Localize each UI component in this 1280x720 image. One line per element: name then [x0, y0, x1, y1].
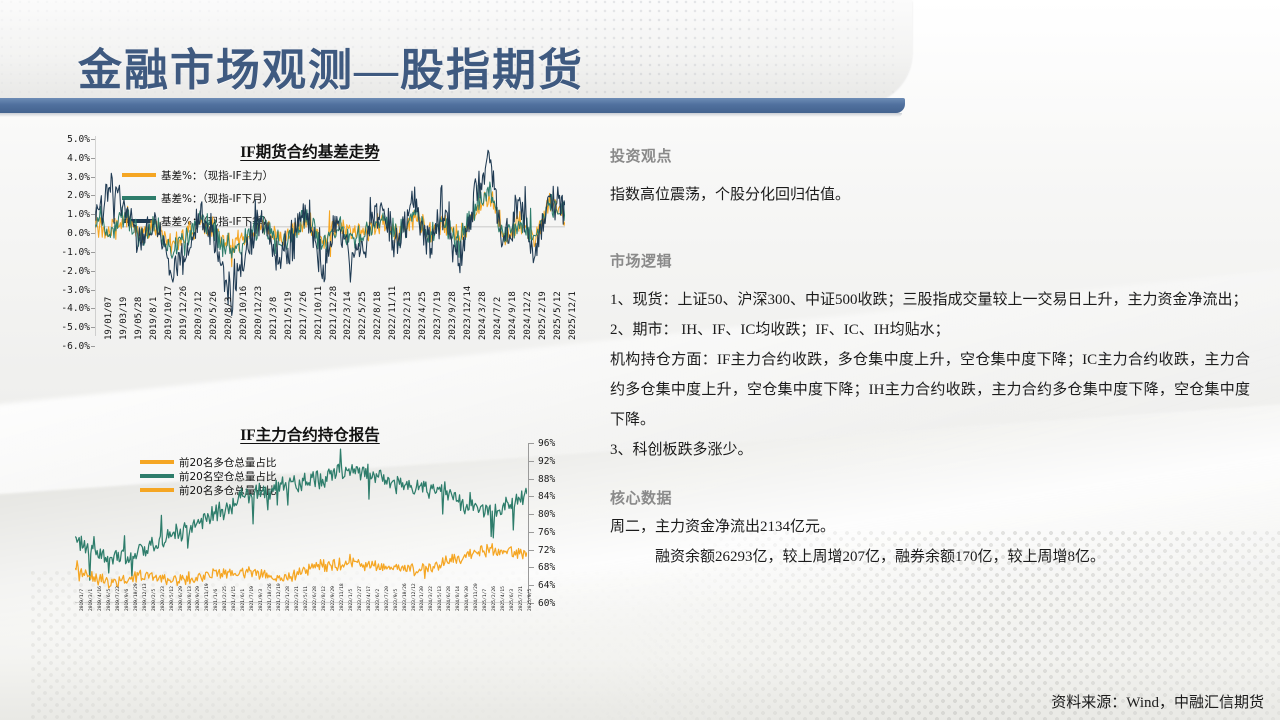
x-tick-label: 19/05/28: [134, 297, 144, 340]
market-logic-heading: 市场逻辑: [610, 250, 1250, 271]
x-tick-label: 2019/6/5: [107, 589, 112, 611]
spacer: [610, 465, 1250, 487]
x-tick-label: 2024/1/30: [420, 586, 425, 611]
y-tick-label: 60%: [538, 598, 555, 609]
x-tick-label: 2022/3/14: [343, 291, 353, 340]
y-tick-label: -6.0%: [50, 341, 90, 352]
x-tick-label: 2024/6/28: [447, 586, 452, 611]
slide-canvas: 金融市场观测—股指期货 IF期货合约基差走势 5.0%4.0%3.0%2.0%1…: [0, 0, 1280, 720]
y-tick-label: 64%: [538, 580, 555, 591]
x-tick-label: 2020/5/12: [170, 586, 175, 611]
x-tick-label: 2020/12/23: [254, 286, 264, 340]
investment-view-text: 指数高位震荡，个股分化回归估值。: [610, 180, 1250, 210]
x-tick-label: 2020/9/29: [196, 586, 201, 611]
x-tick-label: 2022/8/12: [322, 586, 327, 611]
x-tick-label: 2021/10/11: [314, 286, 324, 340]
x-tick-label: 2024/3/28: [478, 291, 488, 340]
x-tick-label: 2025/9/5: [528, 589, 533, 611]
if-position-plot-area: [75, 443, 527, 603]
market-logic-item-3: 机构持仓方面：IF主力合约收跌，多仓集中度上升，空仓集中度下降；IC主力合约收跌…: [610, 345, 1250, 435]
x-tick-label: 2025/4/15: [501, 586, 506, 611]
x-tick-label: 2022/11/18: [340, 583, 345, 611]
x-tick-label: 2022/9/29: [331, 586, 336, 611]
y-tick-mark: [529, 496, 534, 497]
y-tick-mark: [529, 479, 534, 480]
x-tick-label: 2025/1/7: [483, 589, 488, 611]
x-tick-label: 2022/6/28: [313, 586, 318, 611]
x-tick-label: 2022/3/21: [295, 586, 300, 611]
x-tick-label: 2024/8/14: [456, 586, 461, 611]
x-tick-label: 2021/7/26: [299, 291, 309, 340]
y-tick-label: 80%: [538, 509, 555, 520]
x-tick-label: 2024/9/30: [465, 586, 470, 611]
y-tick-label: 5.0%: [50, 134, 90, 145]
y-tick-label: 84%: [538, 491, 555, 502]
spacer: [610, 210, 1250, 250]
investment-view-heading: 投资观点: [610, 145, 1250, 166]
x-tick-label: 2023/2/27: [358, 586, 363, 611]
y-tick-label: -4.0%: [50, 303, 90, 314]
x-tick-label: 2025/12/1: [568, 291, 578, 340]
slide-header: 金融市场观测—股指期货: [0, 0, 1280, 118]
market-logic-item-2: 2、期市： IH、IF、IC均收跌；IF、IC、IH均贴水；: [610, 315, 1250, 345]
x-tick-label: 2022/1/28: [286, 586, 291, 611]
x-tick-label: 2019/12/26: [179, 286, 189, 340]
x-tick-label: 2020/8/3: [224, 297, 234, 340]
x-tick-label: 2019/7/22: [116, 586, 121, 611]
y-tick-mark: [529, 461, 534, 462]
x-tick-label: 2020/8/13: [188, 586, 193, 611]
source-note: 资料来源：Wind，中融汇信期货: [1051, 691, 1264, 712]
x-tick-label: 2019/1/7: [80, 589, 85, 611]
x-tick-label: 2019/8/1: [149, 297, 159, 340]
x-tick-label: 2020/10/16: [239, 286, 249, 340]
x-tick-label: 2023/4/25: [418, 291, 428, 340]
x-tick-label: 2021/2/25: [223, 586, 228, 611]
if-position-chart-title: IF主力合约持仓报告: [50, 423, 570, 445]
market-logic-item-4: 3、科创板跌多涨少。: [610, 435, 1250, 465]
y-tick-label: -1.0%: [50, 247, 90, 258]
y-tick-label: 96%: [538, 438, 555, 449]
x-tick-label: 2019/12/13: [143, 583, 148, 611]
x-tick-label: 2020/5/26: [209, 291, 219, 340]
x-tick-label: 2023/7/19: [433, 291, 443, 340]
y-tick-label: -5.0%: [50, 322, 90, 333]
x-tick-label: 2025/7/21: [519, 586, 524, 611]
x-tick-label: 2020/11/19: [205, 583, 210, 611]
x-tick-label: 2023/6/2: [376, 589, 381, 611]
y-tick-label: -3.0%: [50, 285, 90, 296]
x-tick-label: 2022/5/11: [304, 586, 309, 611]
y-axis-line: [528, 443, 529, 603]
x-tick-label: 2024/9/18: [508, 291, 518, 340]
x-tick-label: 2021/3/8: [269, 297, 279, 340]
page-title: 金融市场观测—股指期货: [78, 34, 584, 98]
x-tick-label: 2024/7/2: [493, 297, 503, 340]
commentary-column: 投资观点 指数高位震荡，个股分化回归估值。 市场逻辑 1、现货：上证50、沪深3…: [610, 145, 1250, 572]
x-tick-label: 2024/5/13: [438, 586, 443, 611]
y-tick-label: -2.0%: [50, 266, 90, 277]
x-tick-label: 2023/2/13: [403, 291, 413, 340]
x-tick-label: 2020/3/23: [161, 586, 166, 611]
x-tick-label: 2019/3/1: [89, 589, 94, 611]
if-basis-chart: IF期货合约基差走势 5.0%4.0%3.0%2.0%1.0%0.0%-1.0%…: [50, 128, 570, 418]
x-tick-label: 2024/3/22: [429, 586, 434, 611]
x-tick-label: 2021/7/19: [250, 586, 255, 611]
x-tick-label: 2021/4/15: [232, 586, 237, 611]
x-tick-label: 2022/11/11: [388, 286, 398, 340]
x-tick-label: 2019/9/6: [125, 589, 130, 611]
x-tick-label: 2020/2/5: [152, 589, 157, 611]
y-tick-label: 3.0%: [50, 172, 90, 183]
x-tick-label: 2022/5/25: [358, 291, 368, 340]
y-tick-mark: [529, 514, 534, 515]
y-tick-label: 88%: [538, 474, 555, 485]
y-tick-label: 76%: [538, 527, 555, 538]
core-data-heading: 核心数据: [610, 487, 1250, 508]
core-data-line-2: 融资余额26293亿，较上周增207亿，融券余额170亿，较上周增8亿。: [610, 542, 1250, 572]
x-tick-label: 2020/6/29: [179, 586, 184, 611]
y-tick-label: 2.0%: [50, 190, 90, 201]
x-tick-label: 19/03/19: [119, 297, 129, 340]
x-tick-label: 19/01/07: [104, 297, 114, 340]
x-tick-label: 2021/10/26: [268, 583, 273, 611]
x-tick-label: 2023/9/28: [448, 291, 458, 340]
x-tick-label: 2021/5/19: [284, 291, 294, 340]
x-tick-label: 2023/10/26: [403, 583, 408, 611]
y-tick-label: 4.0%: [50, 153, 90, 164]
x-tick-label: 2023/9/5: [394, 589, 399, 611]
x-tick-label: 2021/9/3: [259, 589, 264, 611]
x-tick-label: 2021/12/10: [277, 583, 282, 611]
x-tick-label: 2021/1/6: [214, 589, 219, 611]
x-tick-label: 2019/10/29: [134, 583, 139, 611]
x-tick-label: 2023/7/20: [385, 586, 390, 611]
y-tick-label: 1.0%: [50, 209, 90, 220]
x-tick-label: 2025/2/19: [538, 291, 548, 340]
x-tick-label: 2025/5/12: [553, 291, 563, 340]
x-tick-label: 2024/12/2: [523, 291, 533, 340]
y-tick-label: 72%: [538, 545, 555, 556]
header-bar-shadow: [0, 113, 902, 117]
y-tick-label: 92%: [538, 456, 555, 467]
market-logic-item-1: 1、现货：上证50、沪深300、中证500收跌；三股指成交量较上一交易日上升，主…: [610, 285, 1250, 315]
x-tick-label: 2019/4/16: [98, 586, 103, 611]
core-data-line-1: 周二，主力资金净流出2134亿元。: [610, 512, 1250, 542]
y-tick-mark: [529, 567, 534, 568]
y-tick-label: 0.0%: [50, 228, 90, 239]
x-tick-label: 2022/8/18: [373, 291, 383, 340]
x-tick-label: 2023/12/14: [463, 286, 473, 340]
if-position-chart: IF主力合约持仓报告 前20名多仓总量占比 前20名空仓总量占比 前20名多仓总…: [50, 423, 570, 698]
y-tick-mark: [529, 443, 534, 444]
header-accent-bar: [0, 98, 905, 113]
y-tick-mark: [529, 585, 534, 586]
x-tick-label: 2021/12/28: [329, 286, 339, 340]
charts-column: IF期货合约基差走势 5.0%4.0%3.0%2.0%1.0%0.0%-1.0%…: [50, 128, 570, 698]
x-tick-label: 2025/2/26: [492, 586, 497, 611]
x-tick-label: 2020/3/12: [194, 291, 204, 340]
x-tick-label: 2023/12/12: [412, 583, 417, 611]
x-tick-label: 2023/4/17: [367, 586, 372, 611]
x-tick-label: 2023/1/5: [349, 589, 354, 611]
y-tick-label: 68%: [538, 562, 555, 573]
x-tick-label: 2019/10/17: [164, 286, 174, 340]
y-tick-mark: [91, 346, 95, 347]
x-tick-label: 2024/11/20: [474, 583, 479, 611]
y-tick-mark: [529, 532, 534, 533]
x-tick-label: 2025/6/3: [510, 589, 515, 611]
x-tick-label: 2021/6/1: [241, 589, 246, 611]
y-tick-mark: [529, 550, 534, 551]
